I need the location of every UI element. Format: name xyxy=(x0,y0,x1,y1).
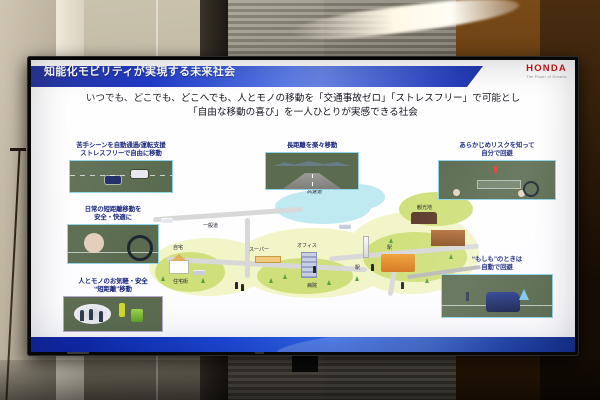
photo-cyclist xyxy=(466,292,469,301)
callout-long-distance: 長距離を楽々移動 xyxy=(253,142,371,190)
tv-power-led xyxy=(255,352,264,354)
photo-road-dashes xyxy=(312,174,313,188)
footer-wave xyxy=(275,337,575,352)
photo-car-light xyxy=(131,170,148,178)
road-lane-markings xyxy=(70,175,172,176)
map-pedestrian xyxy=(235,282,238,289)
tv-screen: 知能化モビリティが実現する未来社会 HONDA The Power of Dre… xyxy=(27,56,579,356)
callout-caption-2: 自分で回避 xyxy=(427,150,567,158)
map-label-office: オフィス xyxy=(297,242,317,249)
honda-logo: HONDA The Power of Dreams xyxy=(526,63,567,79)
callout-caption-2: 安全・快適に xyxy=(51,214,175,222)
photo-car-dark xyxy=(105,176,121,184)
callout-caption: 日常の短距離移動を xyxy=(51,206,175,214)
photo-steering-wheel xyxy=(523,181,539,197)
callout-caption-2: 自動で回避 xyxy=(427,264,567,272)
map-office-tower xyxy=(301,252,317,278)
map-tree xyxy=(269,278,273,283)
presentation-slide: 知能化モビリティが実現する未来社会 HONDA The Power of Dre… xyxy=(31,60,575,352)
callout-caption-2: “短距離”移動 xyxy=(49,286,177,294)
lead-line-2: 「自由な移動の喜び」を一人ひとりが実感できる社会 xyxy=(31,106,575,120)
callout-caption: 長距離を楽々移動 xyxy=(253,142,371,150)
map-tree xyxy=(389,238,393,243)
callout-emergency-auto-avoid: “もしも”のときは 自動で回避 xyxy=(427,256,567,318)
lead-line-1: いつでも、どこでも、どこへでも、人とモノの移動を「交通事故ゼロ」「ストレスフリー… xyxy=(86,93,520,104)
photo-person xyxy=(99,311,103,322)
photo-delivery-robot xyxy=(131,309,143,322)
callout-risk-avoid: あらかじめリスクを知って 自分で回避 xyxy=(427,142,567,200)
map-tree xyxy=(355,276,359,281)
slide-footer-band xyxy=(31,337,575,352)
map-label-station: 駅 xyxy=(387,244,392,251)
map-label-supermarket: スーパー xyxy=(249,246,269,253)
map-label-station-2: 駅 xyxy=(355,264,360,271)
callout-caption-2: ストレスフリーで自由に移動 xyxy=(55,150,187,158)
map-pedestrian xyxy=(371,264,374,271)
callout-daily-short-trip: 日常の短距離移動を 安全・快適に xyxy=(51,206,175,264)
map-pedestrian xyxy=(241,284,244,291)
map-label-hospital: 病院 xyxy=(307,282,317,289)
map-pedestrian xyxy=(313,266,316,273)
map-label-tourist: 観光地 xyxy=(417,204,432,211)
honda-tagline: The Power of Dreams xyxy=(526,75,567,79)
map-tourist-house xyxy=(431,230,465,246)
page-title: 知能化モビリティが実現する未来社会 xyxy=(44,63,235,79)
photo-blue-car xyxy=(486,292,520,312)
photo-driver-head xyxy=(453,189,460,196)
callout-people-and-goods: 人とモノのお気軽・安全 “短距離”移動 xyxy=(49,278,177,332)
map-tree xyxy=(283,274,287,279)
lead-copy: いつでも、どこでも、どこへでも、人とモノの移動を「交通事故ゼロ」「ストレスフリー… xyxy=(31,92,575,120)
map-tourist-temple xyxy=(411,212,437,224)
photo-mountains xyxy=(273,160,350,166)
callout-photo-avoidance xyxy=(441,274,553,318)
map-label-general-road: 一般道 xyxy=(203,222,218,229)
map-tower xyxy=(363,236,369,258)
photo-steering-wheel xyxy=(127,235,153,261)
photo-pedestrian xyxy=(494,166,497,173)
callout-photo-cabin xyxy=(438,160,556,200)
callout-caption: “もしも”のときは xyxy=(427,256,567,264)
callout-caption: あらかじめリスクを知って xyxy=(427,142,567,150)
photo-detection-box xyxy=(478,181,520,188)
tv-stand xyxy=(292,356,318,372)
photo-avoid-arrow xyxy=(519,289,529,300)
callout-caption: 苦手シーンを自動通過/運転支援 xyxy=(55,142,187,150)
map-tree xyxy=(327,280,331,285)
map-station-building xyxy=(381,254,415,272)
photo-person xyxy=(80,310,84,321)
callout-photo-senior-driver xyxy=(67,224,159,264)
map-car xyxy=(193,270,205,275)
callout-photo-aerial-road xyxy=(69,160,173,193)
callout-caption: 人とモノのお気軽・安全 xyxy=(49,278,177,286)
map-pedestrian xyxy=(401,282,404,289)
honda-wordmark: HONDA xyxy=(526,63,567,74)
callout-hard-scene: 苦手シーンを自動通過/運転支援 ストレスフリーで自由に移動 xyxy=(55,142,187,193)
callout-photo-highway xyxy=(265,152,359,190)
photo-walking-person xyxy=(119,303,125,317)
photo-person xyxy=(89,309,93,320)
photo-senior-face xyxy=(84,233,104,253)
map-supermarket xyxy=(255,256,281,263)
map-tree xyxy=(201,278,205,283)
map-car xyxy=(339,224,351,229)
callout-photo-people-robot xyxy=(63,296,163,332)
